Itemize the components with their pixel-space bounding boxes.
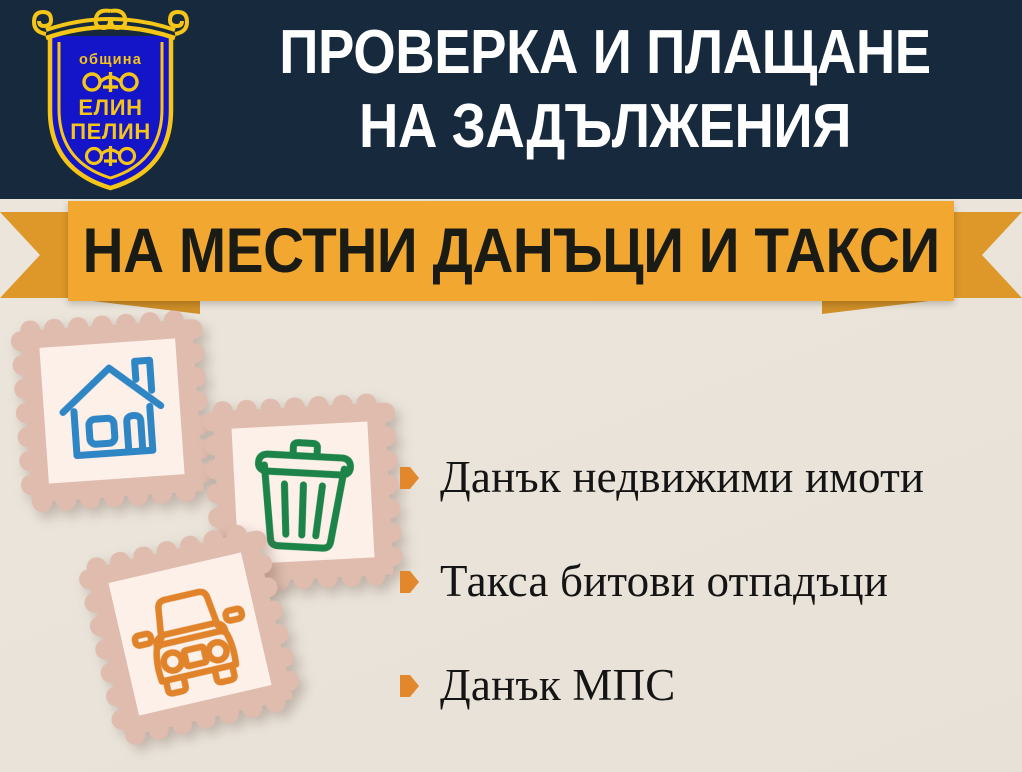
crest-line-1: община <box>79 52 142 68</box>
ribbon-label: НА МЕСТНИ ДАНЪЦИ И ТАКСИ <box>82 219 939 283</box>
list-item-label: Данък МПС <box>440 660 675 710</box>
crest-line-3: ПЕЛИН <box>70 119 151 144</box>
list-item-label: Такса битови отпадъци <box>440 556 888 606</box>
coat-of-arms-icon: община ЕЛИН ПЕЛИН <box>28 2 193 192</box>
poster-canvas: община ЕЛИН ПЕЛИН <box>0 0 1022 772</box>
arrow-bullet-icon <box>400 675 419 697</box>
title-line-2: НА ЗАДЪЛЖЕНИЯ <box>244 90 966 164</box>
ribbon-banner: НА МЕСТНИ ДАНЪЦИ И ТАКСИ <box>0 198 1022 310</box>
list-item-label: Данък недвижими имоти <box>440 452 924 502</box>
crest-line-2: ЕЛИН <box>78 95 142 120</box>
tax-types-list: Данък недвижими имоти Такса битови отпад… <box>400 425 1010 737</box>
page-title: ПРОВЕРКА И ПЛАЩАНЕ НА ЗАДЪЛЖЕНИЯ <box>195 16 1015 164</box>
ribbon-body: НА МЕСТНИ ДАНЪЦИ И ТАКСИ <box>68 201 954 301</box>
list-item[interactable]: Данък недвижими имоти <box>400 425 1010 529</box>
list-item[interactable]: Данък МПС <box>400 633 1010 737</box>
arrow-bullet-icon <box>400 467 419 489</box>
title-line-1: ПРОВЕРКА И ПЛАЩАНЕ <box>244 16 966 90</box>
list-item[interactable]: Такса битови отпадъци <box>400 529 1010 633</box>
header-bar: община ЕЛИН ПЕЛИН <box>0 0 1022 199</box>
stamp-card-property-tax <box>7 306 216 515</box>
arrow-bullet-icon <box>400 571 419 593</box>
